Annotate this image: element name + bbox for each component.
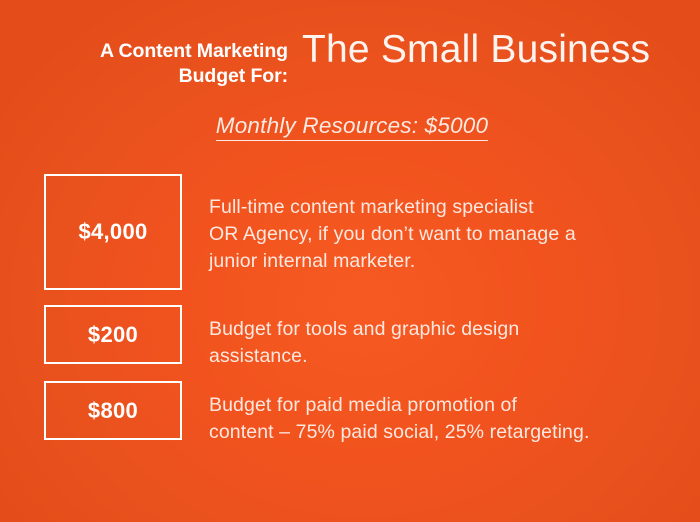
- subtitle-container: Monthly Resources: $5000: [0, 112, 700, 141]
- amount-value: $4,000: [78, 221, 147, 243]
- budget-description: Full-time content marketing specialist O…: [209, 194, 576, 275]
- page-title: The Small Business: [302, 29, 650, 72]
- budget-description: Budget for tools and graphic design assi…: [209, 316, 519, 370]
- slide-header: A Content Marketing Budget For: The Smal…: [0, 29, 700, 89]
- amount-value: $800: [88, 400, 138, 422]
- kicker-line-1: A Content Marketing: [45, 39, 288, 64]
- amount-box: $200: [44, 305, 182, 364]
- description-line: Budget for tools and graphic design: [209, 316, 519, 343]
- budget-description: Budget for paid media promotion of conte…: [209, 392, 589, 446]
- description-line: junior internal marketer.: [209, 248, 576, 275]
- description-line: Budget for paid media promotion of: [209, 392, 589, 419]
- kicker-line-2: Budget For:: [45, 64, 288, 89]
- amount-box: $800: [44, 381, 182, 440]
- budget-row: $200 Budget for tools and graphic design…: [0, 290, 700, 366]
- amount-box: $4,000: [44, 174, 182, 290]
- monthly-resources-subtitle: Monthly Resources: $5000: [216, 112, 488, 141]
- budget-rows: $4,000 Full-time content marketing speci…: [0, 174, 700, 442]
- budget-row: $800 Budget for paid media promotion of …: [0, 366, 700, 442]
- amount-value: $200: [88, 324, 138, 346]
- description-line: content – 75% paid social, 25% retargeti…: [209, 419, 589, 446]
- slide-kicker: A Content Marketing Budget For:: [0, 29, 288, 89]
- description-line: OR Agency, if you don’t want to manage a: [209, 221, 576, 248]
- description-line: Full-time content marketing specialist: [209, 194, 576, 221]
- budget-infographic-slide: A Content Marketing Budget For: The Smal…: [0, 0, 700, 522]
- budget-row: $4,000 Full-time content marketing speci…: [0, 174, 700, 290]
